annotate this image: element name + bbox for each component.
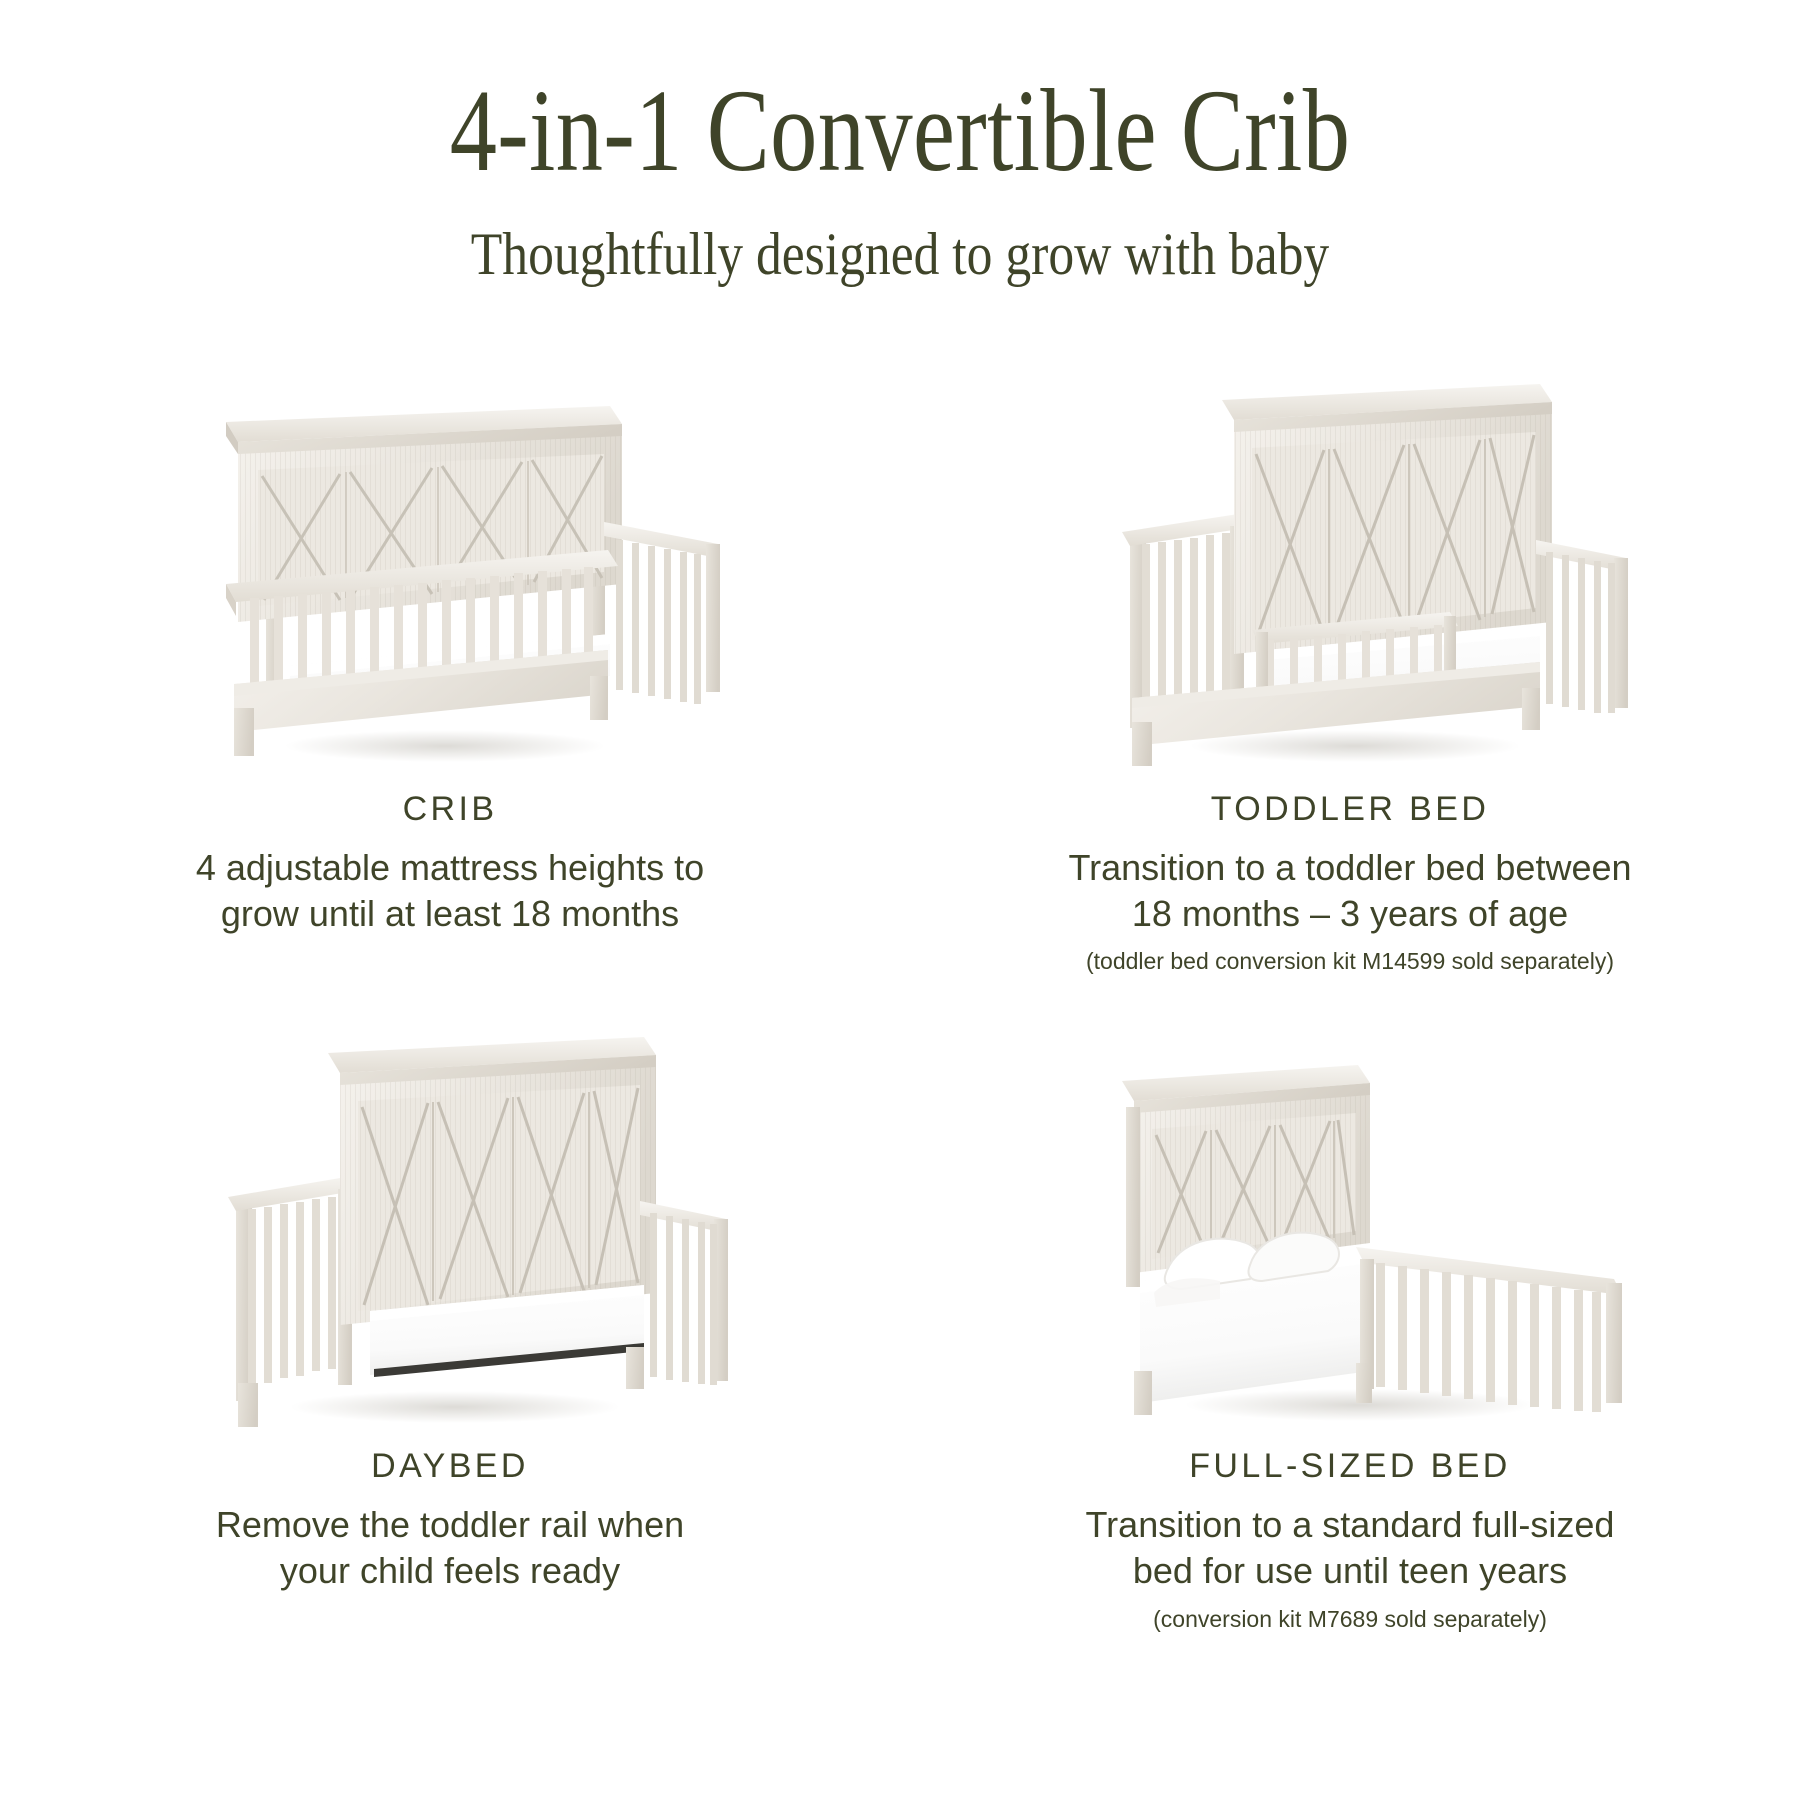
config-card-toddler-bed: TODDLER BED Transition to a toddler bed … xyxy=(900,354,1800,977)
config-card-crib: CRIB 4 adjustable mattress heights to gr… xyxy=(0,354,900,977)
toddler-bed-description: Transition to a toddler bed between 18 m… xyxy=(990,845,1710,936)
toddler-bed-caption: TODDLER BED Transition to a toddler bed … xyxy=(990,790,1710,977)
configuration-grid: CRIB 4 adjustable mattress heights to gr… xyxy=(0,354,1800,1635)
toddler-bed-description-line-1: Transition to a toddler bed between xyxy=(990,845,1710,891)
full-sized-bed-description: Transition to a standard full-sized bed … xyxy=(990,1502,1710,1593)
header: 4-in-1 Convertible Crib Thoughtfully des… xyxy=(0,0,1800,284)
daybed-svg xyxy=(170,1011,730,1431)
crib-description-line-2: grow until at least 18 months xyxy=(90,891,810,937)
full-sized-bed-fine-print: (conversion kit M7689 sold separately) xyxy=(990,1605,1710,1635)
full-sized-bed-svg xyxy=(1070,1011,1630,1431)
crib-description: 4 adjustable mattress heights to grow un… xyxy=(90,845,810,936)
full-sized-bed-description-line-2: bed for use until teen years xyxy=(990,1548,1710,1594)
config-card-full-sized-bed: FULL-SIZED BED Transition to a standard … xyxy=(900,1011,1800,1634)
toddler-bed-description-line-2: 18 months – 3 years of age xyxy=(990,891,1710,937)
crib-caption: CRIB 4 adjustable mattress heights to gr… xyxy=(90,790,810,936)
daybed-description: Remove the toddler rail when your child … xyxy=(90,1502,810,1593)
daybed-illustration xyxy=(170,1011,730,1431)
crib-svg xyxy=(170,354,730,774)
daybed-heading: DAYBED xyxy=(90,1447,810,1486)
infographic-page: 4-in-1 Convertible Crib Thoughtfully des… xyxy=(0,0,1800,1800)
full-sized-bed-illustration xyxy=(1070,1011,1630,1431)
full-sized-bed-description-line-1: Transition to a standard full-sized xyxy=(990,1502,1710,1548)
page-subtitle: Thoughtfully designed to grow with baby xyxy=(126,224,1674,284)
crib-description-line-1: 4 adjustable mattress heights to xyxy=(90,845,810,891)
daybed-caption: DAYBED Remove the toddler rail when your… xyxy=(90,1447,810,1593)
config-card-daybed: DAYBED Remove the toddler rail when your… xyxy=(0,1011,900,1634)
toddler-bed-illustration xyxy=(1070,354,1630,774)
daybed-description-line-2: your child feels ready xyxy=(90,1548,810,1594)
crib-illustration xyxy=(170,354,730,774)
daybed-description-line-1: Remove the toddler rail when xyxy=(90,1502,810,1548)
page-title: 4-in-1 Convertible Crib xyxy=(180,72,1620,190)
toddler-bed-svg xyxy=(1070,354,1630,774)
full-sized-bed-caption: FULL-SIZED BED Transition to a standard … xyxy=(990,1447,1710,1634)
toddler-bed-fine-print: (toddler bed conversion kit M14599 sold … xyxy=(990,947,1710,977)
crib-heading: CRIB xyxy=(90,790,810,829)
toddler-bed-heading: TODDLER BED xyxy=(990,790,1710,829)
full-sized-bed-heading: FULL-SIZED BED xyxy=(990,1447,1710,1486)
